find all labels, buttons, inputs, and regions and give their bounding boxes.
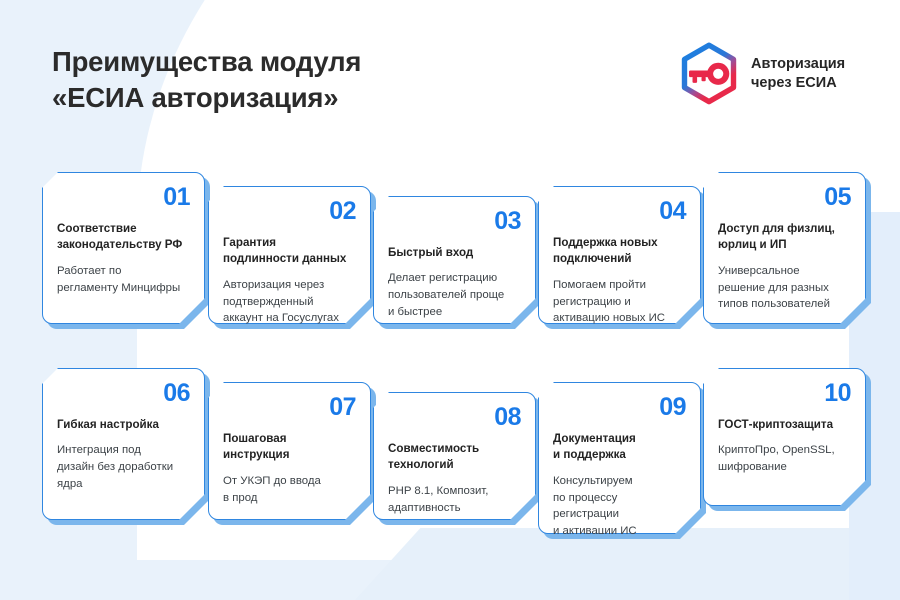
card-title: Доступ для физлиц, юрлиц и ИП [718,221,851,254]
card-number: 10 [718,381,851,407]
card-description: PHP 8.1, Композит, адаптивность [388,483,521,516]
card-number: 05 [718,185,851,211]
card-number: 01 [57,185,190,211]
benefit-card-02[interactable]: 02Гарантия подлинности данныхАвторизация… [208,186,371,324]
card-title: Гибкая настройка [57,417,190,433]
card-number: 07 [223,395,356,421]
benefit-card-03[interactable]: 03Быстрый входДелает регистрацию пользов… [373,196,536,324]
card-number: 03 [388,209,521,235]
hexagon-key-logo-icon [678,42,740,106]
card-description: От УКЭП до ввода в прод [223,473,356,506]
card-number: 08 [388,405,521,431]
benefit-card-10[interactable]: 10ГОСТ-криптозащитаКриптоПро, OpenSSL, ш… [703,368,866,506]
card-number: 09 [553,395,686,421]
card-title: ГОСТ-криптозащита [718,417,851,433]
card-description: КриптоПро, OpenSSL, шифрование [718,442,851,475]
benefit-card-07[interactable]: 07Пошаговая инструкцияОт УКЭП до ввода в… [208,382,371,520]
card-number: 04 [553,199,686,225]
card-title: Поддержка новых подключений [553,235,686,268]
card-description: Помогаем пройти регистрацию и активацию … [553,277,686,327]
benefit-card-04[interactable]: 04Поддержка новых подключенийПомогаем пр… [538,186,701,324]
benefit-card-09[interactable]: 09Документация и поддержкаКонсультируем … [538,382,701,534]
benefit-card-06[interactable]: 06Гибкая настройкаИнтеграция под дизайн … [42,368,205,520]
card-title: Пошаговая инструкция [223,431,356,464]
card-number: 02 [223,199,356,225]
benefit-card-05[interactable]: 05Доступ для физлиц, юрлиц и ИПУниверсал… [703,172,866,324]
brand-logo: Авторизация через ЕСИА [678,42,845,106]
card-description: Универсальное решение для разных типов п… [718,263,851,313]
card-title: Быстрый вход [388,245,521,261]
card-description: Интеграция под дизайн без доработки ядра [57,442,190,492]
card-title: Документация и поддержка [553,431,686,464]
card-description: Делает регистрацию пользователей проще и… [388,270,521,320]
card-title: Совместимость технологий [388,441,521,474]
card-title: Гарантия подлинности данных [223,235,356,268]
brand-logo-text: Авторизация через ЕСИА [751,55,845,94]
page-title: Преимущества модуля «ЕСИА авторизация» [52,44,482,117]
benefit-card-08[interactable]: 08Совместимость технологийPHP 8.1, Компо… [373,392,536,520]
card-description: Работает по регламенту Минцифры [57,263,190,296]
card-number: 06 [57,381,190,407]
infographic-stage: Преимущества модуля «ЕСИА авторизация» [0,0,900,600]
card-description: Консультируем по процессу регистрации и … [553,473,686,540]
card-title: Соответствие законодательству РФ [57,221,190,254]
benefit-card-01[interactable]: 01Соответствие законодательству РФРабота… [42,172,205,324]
card-description: Авторизация через подтвержденный аккаунт… [223,277,356,327]
